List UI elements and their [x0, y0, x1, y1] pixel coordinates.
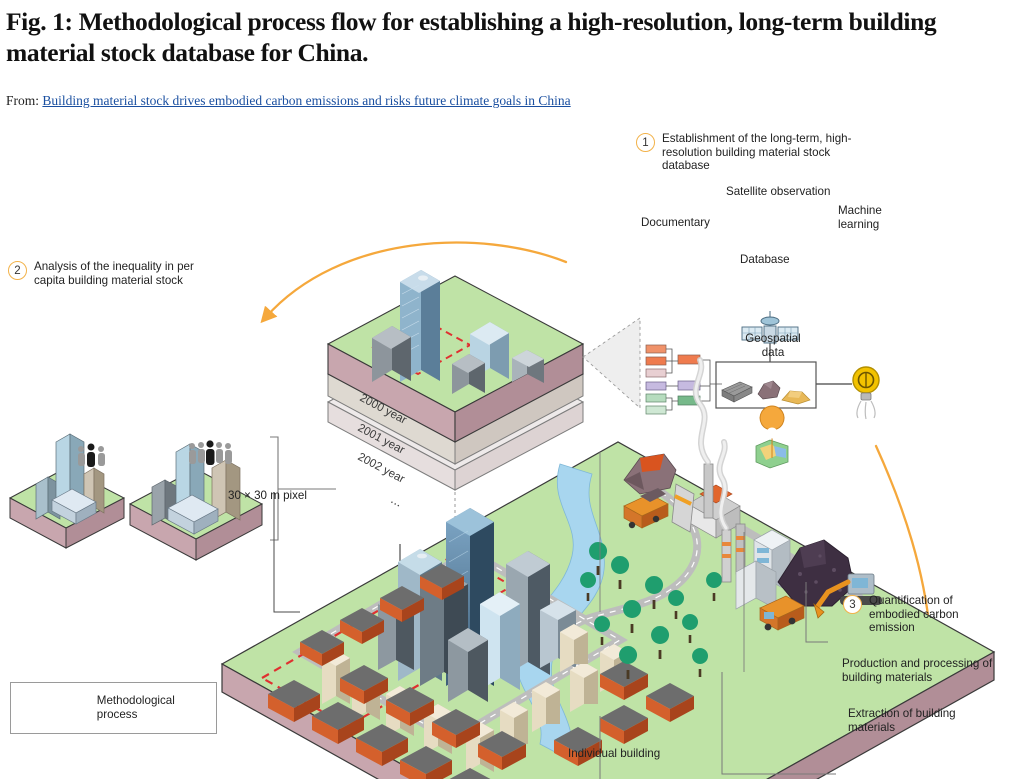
source-attribution: From: Building material stock drives emb… — [6, 93, 571, 109]
callout-3: 3 Quantification of embodied carbon emis… — [843, 594, 993, 635]
extraction-label: Extraction of building materials — [848, 707, 988, 734]
inequality-tile-small — [10, 434, 124, 548]
database-label: Database — [740, 253, 790, 267]
legend: Methodological process — [10, 682, 217, 734]
geospatial-data-label: Geospatial data — [738, 332, 808, 359]
documentary-label: Documentary — [641, 216, 710, 230]
callout-1-number: 1 — [636, 133, 655, 152]
callout-2: 2 Analysis of the inequality in per capi… — [8, 260, 223, 287]
people-icons-large — [206, 440, 215, 465]
year-label-ellipsis: ... — [389, 491, 406, 509]
figure-canvas: 2000 year 2001 year 2002 year ... — [0, 112, 1016, 779]
callout-2-number: 2 — [8, 261, 27, 280]
documentary-icon — [646, 345, 722, 414]
production-label: Production and processing of building ma… — [842, 657, 1012, 684]
callout-2-label: Analysis of the inequality in per capita… — [34, 260, 223, 287]
satellite-observation-label: Satellite observation — [726, 185, 830, 199]
individual-building-label: Individual building — [568, 747, 660, 761]
geospatial-icon — [756, 406, 788, 468]
people-icons-small — [87, 444, 95, 468]
callout-3-label: Quantification of embodied carbon emissi… — [869, 594, 993, 635]
from-label: From: — [6, 93, 39, 108]
year-layer-stack: 2000 year 2001 year 2002 year ... — [328, 270, 583, 510]
page-title: Fig. 1: Methodological process flow for … — [6, 6, 966, 68]
callout-1: 1 Establishment of the long-term, high-r… — [636, 132, 866, 173]
pixel-size-label: 30 × 30 m pixel — [228, 489, 307, 503]
callout-1-label: Establishment of the long-term, high-res… — [662, 132, 866, 173]
callout-3-number: 3 — [843, 595, 862, 614]
legend-label: Methodological process — [97, 694, 216, 721]
machine-learning-icon — [853, 367, 879, 419]
machine-learning-label: Machine learning — [838, 204, 900, 231]
source-link[interactable]: Building material stock drives embodied … — [42, 93, 570, 108]
zoom-cone — [583, 318, 640, 408]
